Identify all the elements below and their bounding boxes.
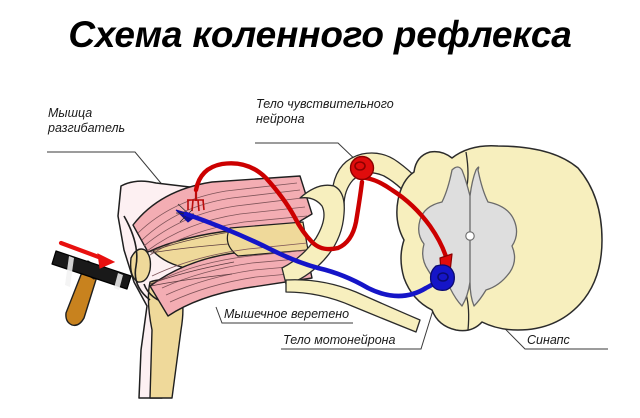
reflex-hammer: [52, 251, 131, 325]
nerve-sheath-ventral: [286, 280, 420, 332]
ganglion-soma: [351, 157, 374, 180]
label-sensory-neuron-body: Тело чувствительного нейрона: [256, 97, 394, 127]
label-synapse-line1: Синапс: [527, 333, 570, 348]
central-canal: [466, 232, 474, 240]
diagram-page: Схема коленного рефлекса: [0, 0, 640, 418]
arrow-head: [98, 254, 114, 268]
label-muscle-spindle-line1: Мышечное веретено: [224, 307, 349, 322]
spinal-cord-cross-section: [397, 146, 602, 331]
label-extensor-muscle-line2: разгибатель: [48, 121, 125, 136]
label-sensory-neuron-body-line2: нейрона: [256, 112, 394, 127]
reflex-arc-illustration: [0, 0, 640, 418]
motor-neuron-soma: [431, 265, 455, 290]
patella-bone: [131, 249, 151, 282]
label-motor-neuron-body-line1: Тело мотонейрона: [283, 333, 396, 348]
label-extensor-muscle: Мышца разгибатель: [48, 106, 125, 136]
label-synapse: Синапс: [527, 333, 570, 348]
dorsal-root-ganglion: [351, 157, 374, 180]
label-sensory-neuron-body-line1: Тело чувствительного: [256, 97, 394, 112]
label-motor-neuron-body: Тело мотонейрона: [283, 333, 396, 348]
label-muscle-spindle: Мышечное веретено: [224, 307, 349, 322]
label-extensor-muscle-line1: Мышца: [48, 106, 125, 121]
